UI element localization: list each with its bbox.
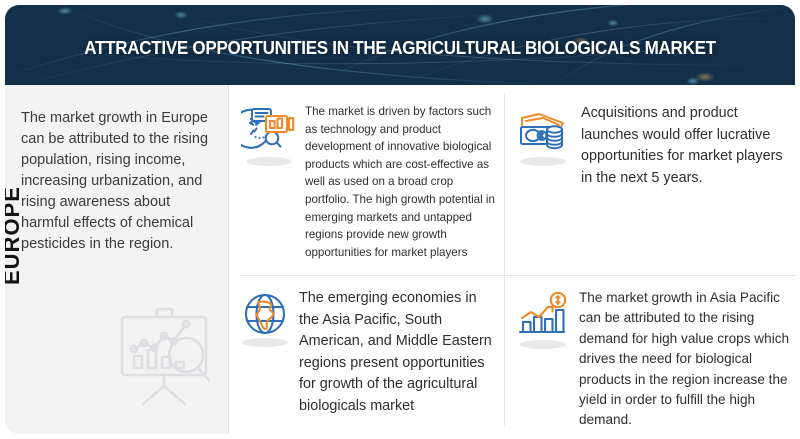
growth-bar-chart-dollar-icon <box>517 290 569 340</box>
europe-panel: The market growth in Europe can be attri… <box>5 85 228 434</box>
infographic-root: ATTRACTIVE OPPORTUNITIES IN THE AGRICULT… <box>0 0 800 439</box>
divider-horizontal <box>241 275 795 276</box>
divider-vertical-right <box>504 93 505 426</box>
europe-region-label: EUROPE <box>5 165 25 285</box>
icon-shadow <box>520 340 566 349</box>
divider-vertical-left <box>228 85 229 434</box>
page-title: ATTRACTIVE OPPORTUNITIES IN THE AGRICULT… <box>37 37 764 59</box>
money-banknote-coins-icon <box>517 109 569 157</box>
cell-market-drivers: The market is driven by factors such as … <box>241 103 499 261</box>
header-banner: ATTRACTIVE OPPORTUNITIES IN THE AGRICULT… <box>5 5 795 85</box>
europe-panel-text: The market growth in Europe can be attri… <box>21 108 217 255</box>
cell-text: Acquisitions and product launches would … <box>581 103 795 189</box>
cell-asia-pacific-growth: The market growth in Asia Pacific can be… <box>517 288 795 431</box>
globe-icon <box>241 290 289 338</box>
cell-text: The market growth in Asia Pacific can be… <box>579 288 795 431</box>
chart-board-magnifier-icon <box>110 300 228 410</box>
icon-shadow <box>242 338 288 347</box>
icon-shadow <box>520 157 566 166</box>
cell-emerging-economies: The emerging economies in the Asia Pacif… <box>241 288 499 417</box>
icon-shadow <box>246 157 292 166</box>
content-area: The market growth in Europe can be attri… <box>5 85 795 434</box>
pie-chart-bar-chart-analysis-icon <box>241 105 297 157</box>
cell-acquisitions-launches: Acquisitions and product launches would … <box>517 103 795 189</box>
cell-text: The emerging economies in the Asia Pacif… <box>299 288 499 417</box>
cell-text: The market is driven by factors such as … <box>305 103 499 261</box>
